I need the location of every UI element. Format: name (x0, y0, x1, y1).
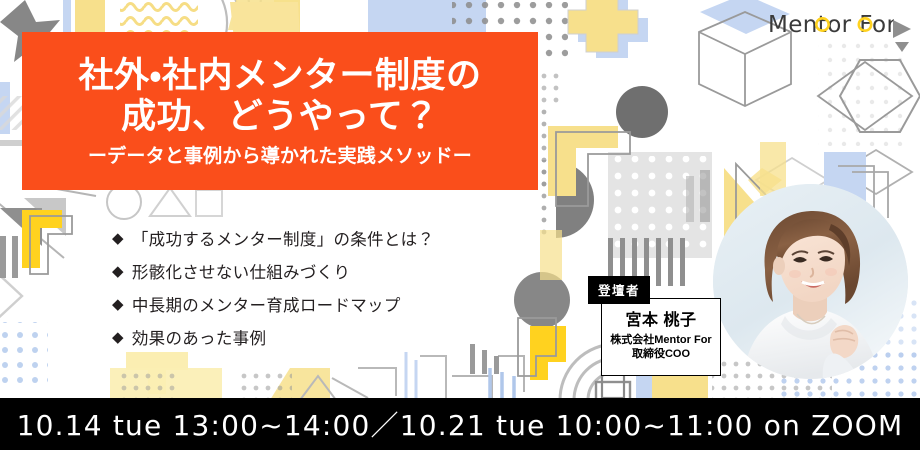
topic-list: ◆ 「成功するメンター制度」の条件とは？ ◆ 形骸化させない仕組みづくり ◆ 中… (112, 226, 434, 349)
arrow-decor-icon (893, 18, 915, 58)
speaker-card: 宮本 桃子 株式会社Mentor For 取締役COO (601, 298, 721, 376)
list-item: ◆ 形骸化させない仕組みづくり (112, 259, 434, 283)
speaker-portrait (713, 184, 908, 379)
speaker-company: 株式会社Mentor For (610, 334, 711, 348)
list-item-label: 中長期のメンター育成ロードマップ (132, 292, 401, 316)
diamond-bullet-icon: ◆ (112, 330, 124, 345)
svg-text:Mentor For: Mentor For (768, 12, 894, 38)
mentor-for-logo-mark: Mentor For (768, 8, 894, 42)
speaker-role: 取締役COO (632, 348, 690, 362)
diamond-bullet-icon: ◆ (112, 264, 124, 279)
list-item: ◆ 中長期のメンター育成ロードマップ (112, 292, 434, 316)
webinar-banner: Mentor For Mentor For 社外・社内メンター制度の 成功、どう… (0, 0, 920, 450)
speaker-tag-label: 登壇者 (588, 276, 650, 304)
list-item: ◆ 「成功するメンター制度」の条件とは？ (112, 226, 434, 250)
date-bar: 10.14 tue 13:00~14:00／10.21 tue 10:00~11… (0, 398, 920, 450)
brand-logo: Mentor For Mentor For (768, 8, 894, 48)
list-item-label: 「成功するメンター制度」の条件とは？ (132, 226, 434, 250)
title-line-1: 社外・社内メンター制度の (79, 55, 482, 96)
title-subtitle: ーデータと事例から導かれた実践メソッドー (88, 146, 472, 169)
speaker-name: 宮本 桃子 (626, 312, 697, 330)
list-item: ◆ 効果のあった事例 (112, 325, 434, 349)
portrait-illustration (713, 184, 908, 379)
list-item-label: 効果のあった事例 (132, 325, 266, 349)
date-bar-text: 10.14 tue 13:00~14:00／10.21 tue 10:00~11… (17, 404, 904, 444)
list-item-label: 形骸化させない仕組みづくり (132, 259, 350, 283)
diamond-bullet-icon: ◆ (112, 231, 124, 246)
diamond-bullet-icon: ◆ (112, 297, 124, 312)
title-band: 社外・社内メンター制度の 成功、どうやって？ ーデータと事例から導かれた実践メソ… (22, 32, 538, 190)
title-line-2: 成功、どうやって？ (121, 96, 439, 137)
